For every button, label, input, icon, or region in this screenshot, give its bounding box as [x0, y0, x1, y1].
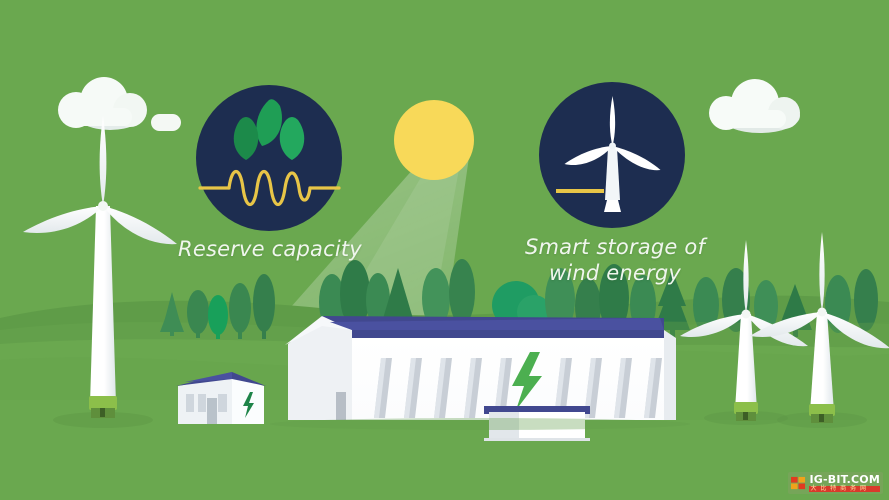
site-watermark: IG-BIT.COM 大 比 特 商 务 网	[788, 472, 883, 494]
cloud-left-small	[151, 114, 181, 131]
label-smart-storage: Smart storage of wind energy	[490, 234, 740, 286]
battery-storage-facility	[285, 316, 676, 420]
watermark-main-text: IG-BIT.COM	[809, 474, 880, 485]
building-shadow	[270, 418, 690, 430]
illustration-canvas: Reserve capacity Smart storage of wind e…	[0, 0, 889, 500]
watermark-sub-text: 大 比 特 商 务 网	[809, 486, 880, 492]
label-reserve-capacity: Reserve capacity	[150, 236, 390, 262]
wind-storage-icon	[539, 82, 685, 228]
scene-artwork	[0, 0, 889, 500]
watermark-logo-icon	[791, 476, 806, 491]
reserve-capacity-icon	[196, 85, 342, 231]
sun	[394, 100, 474, 180]
